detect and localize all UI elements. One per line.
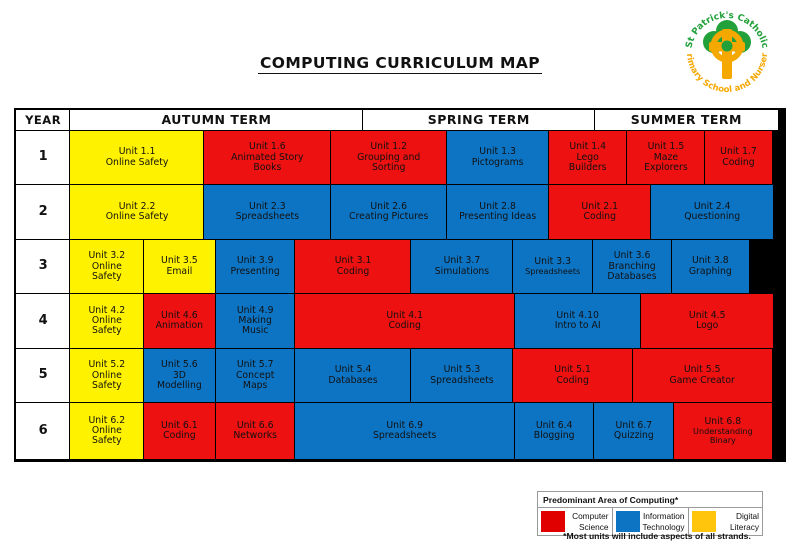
unit-cell-line: Unit 3.2 (88, 251, 125, 261)
unit-cell-line: Safety (92, 381, 122, 391)
legend-swatch (692, 511, 716, 532)
unit-cell-line: Explorers (644, 163, 688, 173)
unit-cell[interactable]: Unit 6.2OnlineSafety (69, 402, 144, 460)
legend-label-line1: Computer (568, 511, 609, 522)
unit-cell[interactable]: Unit 5.7ConceptMaps (215, 348, 296, 404)
unit-cell-line: Online Safety (106, 158, 169, 168)
legend: Predominant Area of Computing* ComputerS… (537, 491, 763, 536)
unit-cell[interactable]: Unit 6.9Spreadsheets (294, 402, 515, 460)
unit-cell-line: Unit 1.5 (648, 142, 685, 152)
unit-cell-line: Unit 5.2 (88, 360, 125, 370)
unit-cell[interactable]: Unit 3.9Presenting (215, 239, 296, 295)
unit-cell-line: Spreadsheets (236, 212, 299, 222)
curriculum-grid: YEAR AUTUMN TERM SPRING TERM SUMMER TERM… (14, 108, 786, 462)
unit-cell-line: Safety (92, 326, 122, 336)
header-summer-term: SUMMER TERM (594, 109, 779, 131)
unit-cell[interactable]: Unit 6.4Blogging (514, 402, 595, 460)
unit-cell-line: Coding (584, 212, 616, 222)
unit-cell-line: Networks (233, 431, 277, 441)
header-spring-term: SPRING TERM (362, 109, 595, 131)
unit-cell[interactable]: Unit 2.4Questioning (650, 184, 774, 240)
unit-cell[interactable]: Unit 3.7Simulations (410, 239, 513, 295)
unit-cell[interactable]: Unit 6.1Coding (143, 402, 216, 460)
unit-cell-line: Creating Pictures (349, 212, 428, 222)
unit-cell-line: Books (253, 163, 281, 173)
grid-row-year-4: 4Unit 4.2OnlineSafetyUnit 4.6AnimationUn… (16, 294, 784, 349)
unit-cell[interactable]: Unit 5.2OnlineSafety (69, 348, 144, 404)
year-label-5: 5 (15, 348, 71, 404)
unit-cell[interactable]: Unit 1.7Coding (704, 130, 772, 186)
unit-cell-line: Coding (556, 376, 588, 386)
legend-label: InformationTechnology (640, 511, 685, 532)
year-label-4: 4 (15, 293, 71, 349)
unit-cell-line: Unit 1.6 (249, 142, 286, 152)
legend-swatch (541, 511, 565, 532)
unit-cell-line: Pictograms (472, 158, 524, 168)
unit-cell-line: Binary (710, 436, 736, 445)
unit-cell-line: Unit 3.6 (614, 251, 651, 261)
unit-cell-line: Databases (607, 272, 656, 282)
unit-cell[interactable]: Unit 2.1Coding (548, 184, 652, 240)
unit-cell-line: Coding (722, 158, 754, 168)
unit-cell[interactable]: Unit 3.6BranchingDatabases (592, 239, 672, 295)
unit-cell[interactable]: Unit 1.2Grouping andSorting (330, 130, 448, 186)
unit-cell[interactable]: Unit 5.4Databases (294, 348, 412, 404)
unit-cell-line: Sorting (372, 163, 405, 173)
unit-cell[interactable]: Unit 1.6Animated StoryBooks (203, 130, 331, 186)
unit-cell-line: Safety (92, 436, 122, 446)
grid-row-year-1: 1Unit 1.1Online SafetyUnit 1.6Animated S… (16, 131, 784, 186)
unit-cell-line: Blogging (534, 431, 575, 441)
unit-cell[interactable]: Unit 3.2OnlineSafety (69, 239, 144, 295)
legend-swatch (616, 511, 640, 532)
year-label-2: 2 (15, 184, 71, 240)
unit-cell[interactable]: Unit 1.4LegoBuilders (548, 130, 628, 186)
unit-cell[interactable]: Unit 1.5MazeExplorers (626, 130, 706, 186)
unit-cell-line: Unit 5.6 (161, 360, 198, 370)
grid-row-year-2: 2Unit 2.2Online SafetyUnit 2.3Spreadshee… (16, 185, 784, 240)
header-autumn-term: AUTUMN TERM (69, 109, 363, 131)
unit-cell-line: Spreadsheets (430, 376, 493, 386)
unit-cell[interactable]: Unit 3.5Email (143, 239, 216, 295)
page-title: COMPUTING CURRICULUM MAP (0, 54, 800, 74)
unit-cell-line: Coding (388, 321, 420, 331)
unit-cell-line: Game Creator (670, 376, 735, 386)
unit-cell[interactable]: Unit 1.3Pictograms (446, 130, 549, 186)
unit-cell-line: Quizzing (614, 431, 654, 441)
unit-cell[interactable]: Unit 6.7Quizzing (593, 402, 674, 460)
unit-cell[interactable]: Unit 2.3Spreadsheets (203, 184, 331, 240)
unit-cell[interactable]: Unit 2.2Online Safety (69, 184, 204, 240)
unit-cell[interactable]: Unit 6.6Networks (215, 402, 296, 460)
unit-cell[interactable]: Unit 5.3Spreadsheets (410, 348, 513, 404)
unit-cell-line: Animation (156, 321, 203, 331)
unit-cell-line: Spreadsheets (373, 431, 436, 441)
st-patricks-school-logo: St Patrick's Catholic Primary School and… (678, 4, 776, 96)
unit-cell-line: Databases (328, 376, 377, 386)
grid-row-year-3: 3Unit 3.2OnlineSafetyUnit 3.5EmailUnit 3… (16, 240, 784, 295)
unit-cell[interactable]: Unit 4.5Logo (640, 293, 774, 349)
unit-cell[interactable]: Unit 4.2OnlineSafety (69, 293, 144, 349)
unit-cell-line: Coding (163, 431, 195, 441)
unit-cell[interactable]: Unit 6.8UnderstandingBinary (673, 402, 773, 460)
unit-cell-line: Presenting Ideas (459, 212, 536, 222)
legend-footnote: *Most units will include aspects of all … (537, 531, 777, 541)
unit-cell-line: Intro to AI (555, 321, 601, 331)
unit-cell[interactable]: Unit 4.1Coding (294, 293, 515, 349)
unit-cell-line: Email (166, 267, 192, 277)
unit-cell[interactable]: Unit 4.10Intro to AI (514, 293, 642, 349)
unit-cell-line: Simulations (435, 267, 489, 277)
legend-label: ComputerScience (565, 511, 609, 532)
year-label-3: 3 (15, 239, 71, 295)
unit-cell[interactable]: Unit 1.1Online Safety (69, 130, 204, 186)
unit-cell[interactable]: Unit 3.8Graphing (671, 239, 750, 295)
unit-cell-line: Graphing (689, 267, 732, 277)
grid-header-row: YEAR AUTUMN TERM SPRING TERM SUMMER TERM (16, 110, 784, 131)
unit-cell-line: Modelling (157, 381, 202, 391)
unit-cell-line: Logo (696, 321, 718, 331)
year-label-1: 1 (15, 130, 71, 186)
unit-cell-line: Unit 5.7 (237, 360, 274, 370)
unit-cell[interactable]: Unit 2.6Creating Pictures (330, 184, 448, 240)
page-title-text: COMPUTING CURRICULUM MAP (258, 54, 542, 74)
unit-cell-line: Online Safety (106, 212, 169, 222)
unit-cell[interactable]: Unit 4.6Animation (143, 293, 216, 349)
header-year: YEAR (15, 109, 71, 131)
unit-cell-line: Safety (92, 272, 122, 282)
curriculum-map-page: St Patrick's Catholic Primary School and… (0, 0, 800, 549)
unit-cell-line: Coding (337, 267, 369, 277)
unit-cell-line: Unit 1.2 (370, 142, 407, 152)
year-label-6: 6 (15, 402, 71, 460)
unit-cell[interactable]: Unit 5.1Coding (512, 348, 633, 404)
unit-cell-line: Spreadsheets (525, 267, 580, 276)
unit-cell-line: Questioning (684, 212, 740, 222)
legend-label-line1: Information (643, 511, 685, 522)
unit-cell-line: Maps (243, 381, 267, 391)
legend-label: DigitalLiteracy (716, 511, 760, 532)
grid-row-year-5: 5Unit 5.2OnlineSafetyUnit 5.63DModelling… (16, 349, 784, 404)
unit-cell[interactable]: Unit 3.3Spreadsheets (512, 239, 593, 295)
unit-cell[interactable]: Unit 5.63DModelling (143, 348, 216, 404)
unit-cell-line: Presenting (231, 267, 280, 277)
legend-label-line1: Digital (719, 511, 760, 522)
unit-cell[interactable]: Unit 2.8Presenting Ideas (446, 184, 549, 240)
unit-cell[interactable]: Unit 4.9MakingMusic (215, 293, 296, 349)
unit-cell[interactable]: Unit 3.1Coding (294, 239, 412, 295)
unit-cell-line: Unit 1.4 (569, 142, 606, 152)
unit-cell[interactable]: Unit 5.5Game Creator (632, 348, 773, 404)
unit-cell-line: Music (242, 326, 268, 336)
unit-cell-line: Builders (569, 163, 607, 173)
legend-title: Predominant Area of Computing* (538, 492, 762, 508)
grid-row-year-6: 6Unit 6.2OnlineSafetyUnit 6.1CodingUnit … (16, 403, 784, 460)
